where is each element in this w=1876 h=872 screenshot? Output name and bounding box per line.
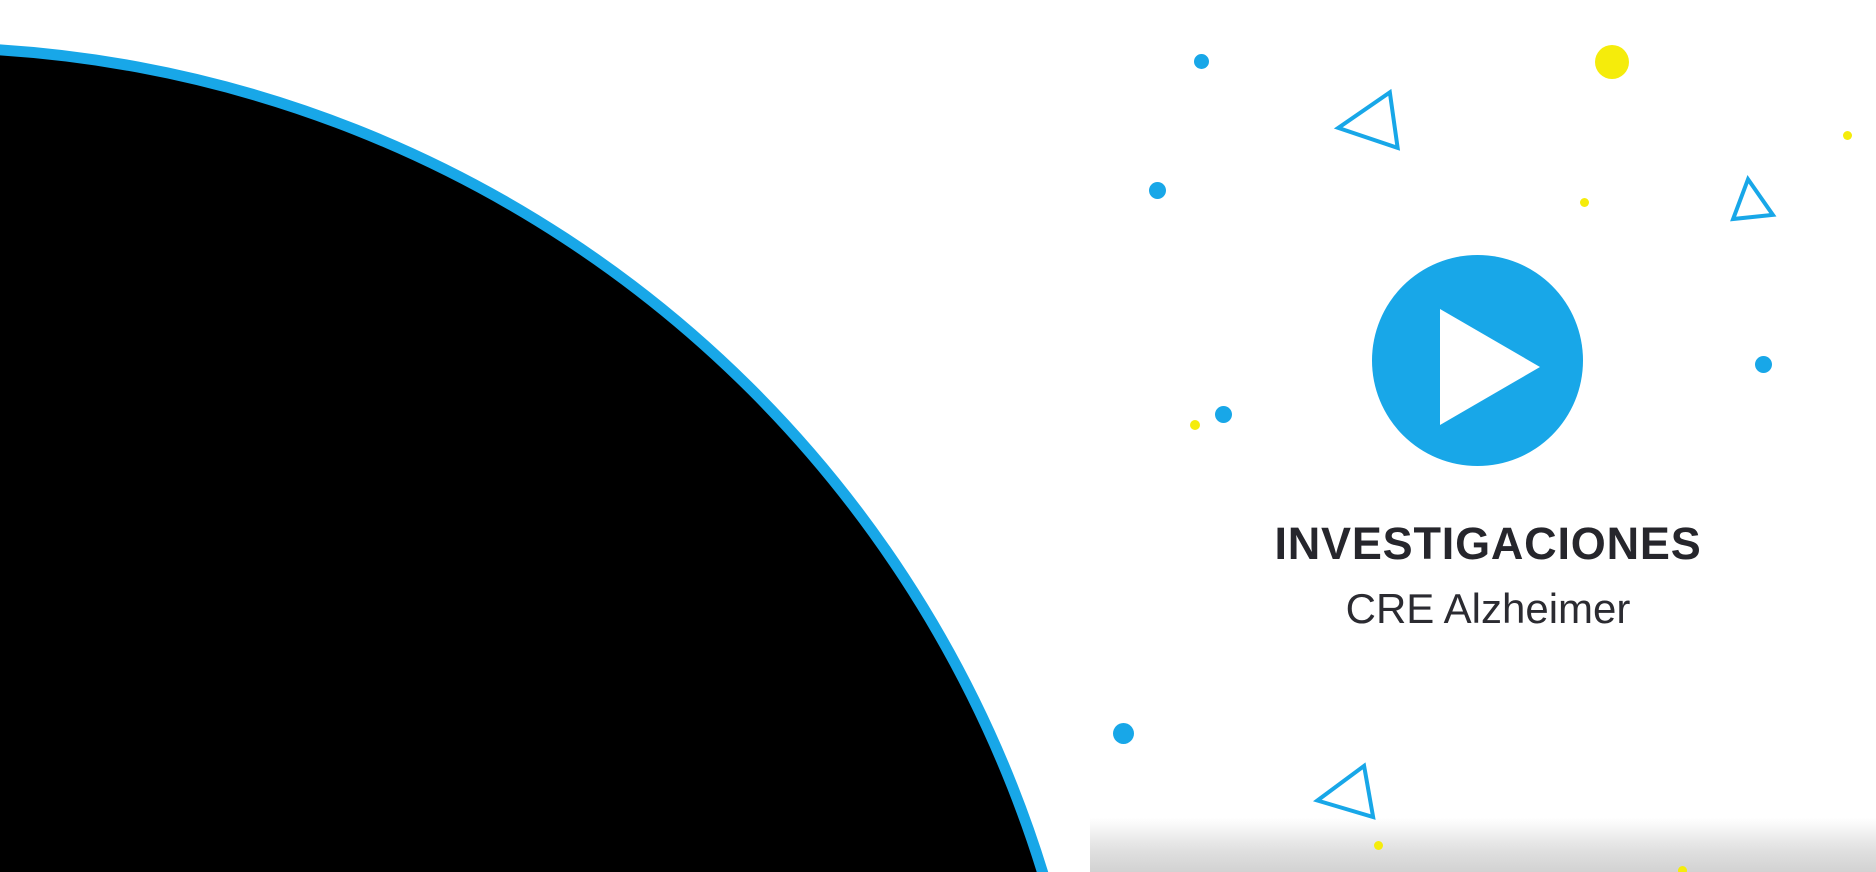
dot-blue-2	[1149, 182, 1166, 199]
video-title: INVESTIGACIONES	[1100, 520, 1876, 567]
dot-yellow-3	[1843, 131, 1852, 140]
dot-blue-4	[1755, 356, 1772, 373]
video-subtitle: CRE Alzheimer	[1100, 585, 1876, 633]
caption-block: INVESTIGACIONES CRE Alzheimer	[1100, 520, 1876, 634]
play-button[interactable]	[1372, 255, 1583, 466]
triangle-left-bottom-icon	[1308, 761, 1378, 831]
triangle-up-right-icon	[1726, 174, 1776, 223]
video-backdrop-circle[interactable]	[0, 42, 1100, 872]
dot-yellow-4	[1190, 420, 1200, 430]
dot-yellow-5	[1374, 841, 1383, 850]
dot-blue-5	[1113, 723, 1134, 744]
dot-yellow-2	[1580, 198, 1589, 207]
dot-blue-1	[1194, 54, 1209, 69]
dot-yellow-6	[1678, 866, 1687, 872]
triangle-left-top-icon	[1330, 88, 1402, 160]
video-player-slide: INVESTIGACIONES CRE Alzheimer	[0, 0, 1876, 872]
dot-blue-3	[1215, 406, 1232, 423]
dot-yellow-1	[1595, 45, 1629, 79]
play-triangle-icon	[1440, 309, 1540, 425]
